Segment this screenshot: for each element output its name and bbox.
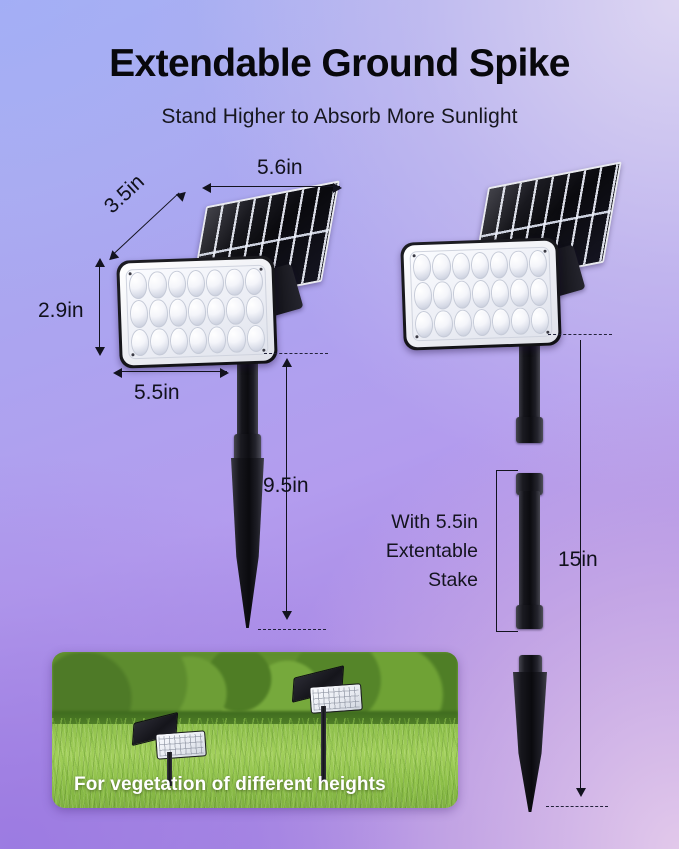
arrow-down-total-short — [282, 611, 292, 620]
arrow-up-head-height — [95, 258, 105, 267]
arrow-lower-panel-depth — [106, 250, 119, 263]
photo-caption: For vegetation of different heights — [74, 774, 386, 796]
reference-line-head-bottom-tall — [548, 334, 612, 335]
dimension-label-total-short: 9.5in — [263, 474, 309, 498]
extension-note: With 5.5in Extentable Stake — [318, 508, 478, 595]
reference-line-spike-tip-tall — [546, 806, 608, 807]
arrow-upper-panel-depth — [176, 188, 189, 201]
reference-line-spike-tip-short — [258, 629, 326, 630]
photo-led-head-short — [155, 730, 207, 759]
arrow-down-head-height — [95, 347, 105, 356]
arrow-down-total-tall — [576, 788, 586, 797]
photo-led-grid-tall — [312, 686, 359, 710]
photo-pole-tall — [321, 706, 326, 782]
extension-note-line-1: With 5.5in — [318, 508, 478, 537]
extension-note-line-2: Extentable — [318, 537, 478, 566]
arrow-up-total-short — [282, 358, 292, 367]
photo-led-head-tall — [309, 683, 363, 714]
reference-line-head-bottom-short — [264, 353, 328, 354]
dimension-line-head-height — [99, 266, 100, 354]
dimension-line-head-width — [119, 371, 227, 372]
infographic-canvas: Extendable Ground Spike Stand Higher to … — [0, 0, 679, 849]
dimension-label-total-tall: 15in — [558, 548, 598, 572]
photo-led-grid-short — [158, 733, 203, 756]
extension-bracket — [496, 470, 518, 632]
dimension-label-head-width: 5.5in — [134, 381, 180, 405]
dimension-label-head-height: 2.9in — [38, 299, 84, 323]
arrow-right-head-width — [220, 368, 229, 378]
extension-note-line-3: Stake — [318, 566, 478, 595]
lifestyle-photo: For vegetation of different heights — [52, 652, 458, 808]
arrow-left-head-width — [113, 368, 122, 378]
